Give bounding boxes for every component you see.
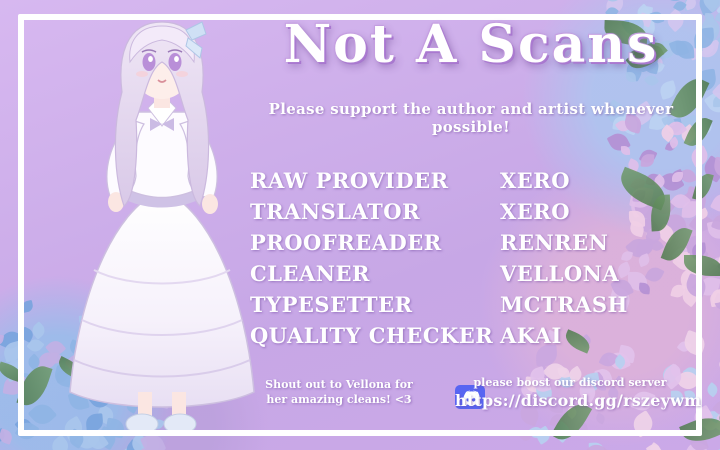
credit-name: XERO xyxy=(500,168,670,193)
credits-list: RAW PROVIDER XERO TRANSLATOR XERO PROOFR… xyxy=(250,168,670,354)
flower-petal xyxy=(30,321,48,339)
credit-row: CLEANER VELLONA xyxy=(250,261,670,286)
flower-petal xyxy=(709,190,720,216)
flower-petal xyxy=(20,300,33,313)
flower-petal xyxy=(672,172,683,183)
discord-invite-block[interactable]: please boost our discord server https://… xyxy=(455,376,685,410)
credit-name: RENREN xyxy=(500,230,670,255)
shoutout-line-2: her amazing cleans! <3 xyxy=(244,393,434,408)
credit-role: QUALITY CHECKER xyxy=(250,323,500,348)
flower-petal xyxy=(0,428,14,445)
shoutout-line-1: Shout out to Vellona for xyxy=(244,378,434,393)
flower-petal xyxy=(621,146,630,155)
credit-role: PROOFREADER xyxy=(250,230,500,255)
credit-name: XERO xyxy=(500,199,670,224)
shoutout-note: Shout out to Vellona for her amazing cle… xyxy=(244,378,434,408)
flower-petal xyxy=(681,330,708,357)
support-subtitle: Please support the author and artist whe… xyxy=(236,100,706,136)
page-title: Not A Scans xyxy=(236,14,706,75)
flower-petal xyxy=(595,412,607,424)
credits-page: Not A Scans Please support the author an… xyxy=(0,0,720,450)
flower-petal xyxy=(641,154,655,168)
credit-role: RAW PROVIDER xyxy=(250,168,500,193)
credit-role: CLEANER xyxy=(250,261,500,286)
credit-row: TYPESETTER MCTRASH xyxy=(250,292,670,317)
flower-petal xyxy=(704,382,720,398)
credit-row: QUALITY CHECKER AKAI xyxy=(250,323,670,348)
credit-role: TYPESETTER xyxy=(250,292,500,317)
credit-name: AKAI xyxy=(500,323,670,348)
discord-prompt: please boost our discord server xyxy=(455,376,685,389)
credit-name: VELLONA xyxy=(500,261,670,286)
credit-row: TRANSLATOR XERO xyxy=(250,199,670,224)
credit-role: TRANSLATOR xyxy=(250,199,500,224)
credit-row: RAW PROVIDER XERO xyxy=(250,168,670,193)
credit-row: PROOFREADER RENREN xyxy=(250,230,670,255)
flower-petal xyxy=(629,410,656,437)
discord-url[interactable]: https://discord.gg/rszeywm xyxy=(455,391,685,410)
credit-name: MCTRASH xyxy=(500,292,670,317)
flower-petal xyxy=(582,440,610,450)
